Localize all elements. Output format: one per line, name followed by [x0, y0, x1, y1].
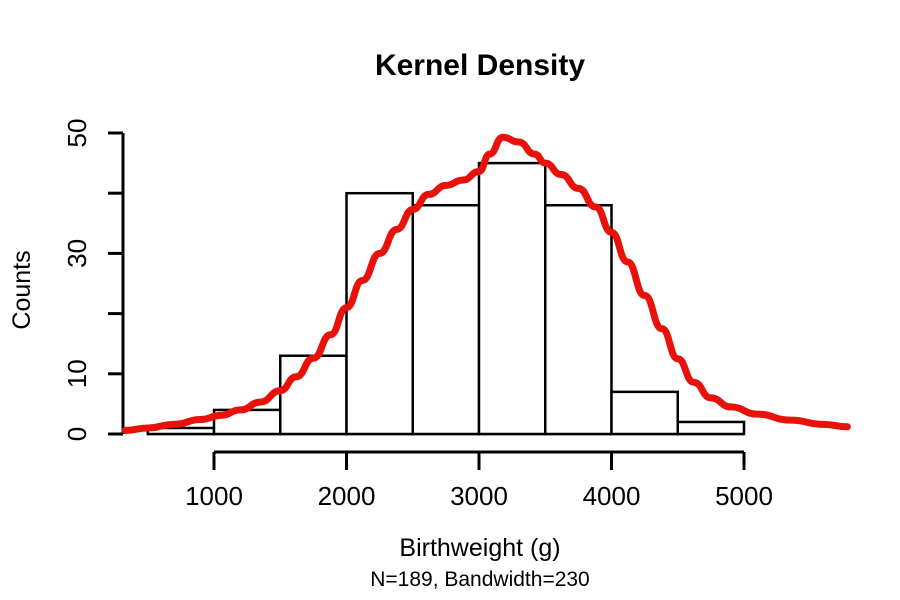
histogram-bar [280, 356, 346, 434]
x-tick-label: 5000 [715, 481, 773, 511]
y-axis: 0103050 [62, 119, 123, 442]
chart-canvas: Kernel Density 0103050 10002000300040005… [0, 0, 900, 600]
y-tick-label: 10 [62, 359, 92, 388]
x-axis-label-group: Birthweight (g) N=189, Bandwidth=230 [370, 534, 590, 591]
y-tick-label: 50 [62, 119, 92, 148]
x-axis-sublabel: N=189, Bandwidth=230 [370, 568, 590, 591]
x-tick-label: 1000 [185, 481, 243, 511]
histogram-bar [479, 163, 545, 434]
histogram-bar [678, 422, 744, 434]
x-tick-label: 3000 [450, 481, 508, 511]
chart-title-group: Kernel Density [375, 49, 585, 82]
x-axis: 10002000300040005000 [185, 452, 773, 511]
x-axis-label: Birthweight (g) [399, 534, 560, 562]
x-tick-label: 2000 [318, 481, 376, 511]
histogram-bar [413, 205, 479, 434]
y-tick-label: 30 [62, 239, 92, 268]
x-tick-label: 4000 [583, 481, 641, 511]
histogram-bars [148, 163, 744, 434]
y-axis-label-group: Counts [8, 250, 36, 329]
histogram-bar [612, 392, 678, 434]
histogram-bar [545, 205, 611, 434]
y-axis-label: Counts [8, 250, 36, 329]
kernel-density-plot: Kernel Density 0103050 10002000300040005… [0, 0, 900, 600]
y-tick-label: 0 [62, 427, 92, 441]
chart-title: Kernel Density [375, 49, 585, 82]
